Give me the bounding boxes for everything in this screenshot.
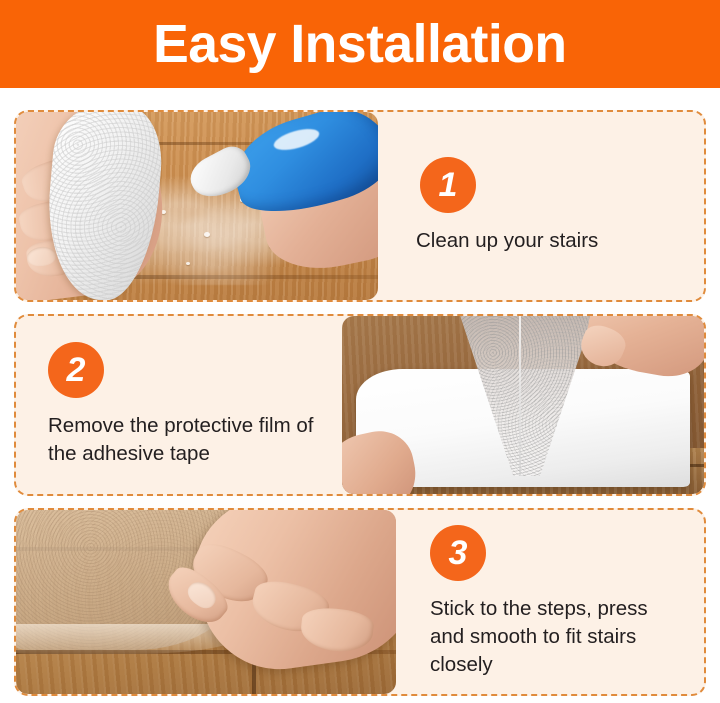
step-number-badge-1: 1	[420, 157, 476, 213]
step-card-2: 2 Remove the protective film of the adhe…	[14, 314, 706, 496]
step-card-3: 3 Stick to the steps, press and smooth t…	[14, 508, 706, 696]
header-banner: Easy Installation	[0, 0, 720, 88]
step-3-text-pane: 3 Stick to the steps, press and smooth t…	[396, 510, 704, 694]
step-2-description: Remove the protective film of the adhesi…	[48, 412, 318, 469]
step-1-photo	[16, 112, 378, 300]
page-title: Easy Installation	[153, 17, 566, 71]
step-3-photo	[16, 510, 396, 694]
step-2-photo	[342, 316, 704, 494]
step-1-description: Clean up your stairs	[416, 227, 686, 255]
step-card-1: 1 Clean up your stairs	[14, 110, 706, 302]
step-number-badge-3: 3	[430, 525, 486, 581]
step-2-text-pane: 2 Remove the protective film of the adhe…	[16, 316, 342, 494]
film-fold-crease	[519, 316, 521, 476]
step-1-text-pane: 1 Clean up your stairs	[378, 112, 704, 300]
step-number-badge-2: 2	[48, 342, 104, 398]
step-3-description: Stick to the steps, press and smooth to …	[430, 595, 686, 680]
